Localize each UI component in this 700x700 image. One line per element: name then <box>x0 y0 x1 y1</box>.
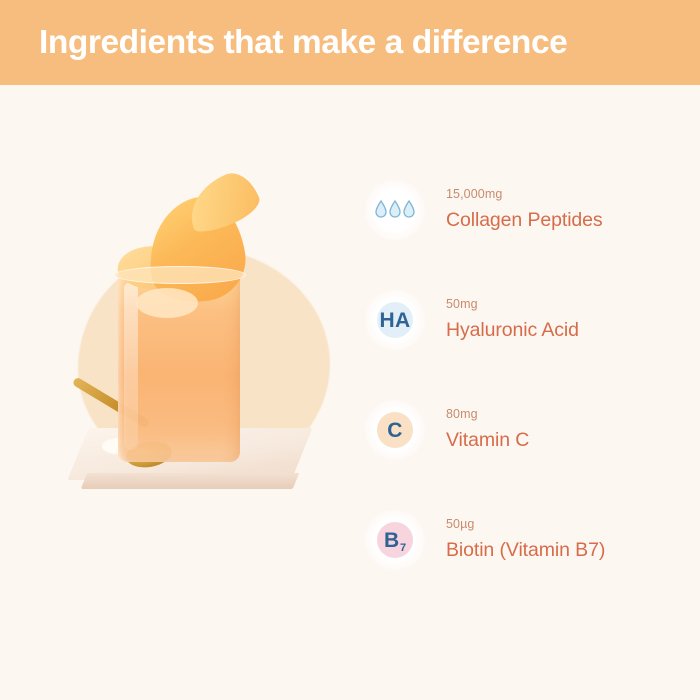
product-image <box>40 170 340 550</box>
ingredient-list: 15,000mg Collagen Peptides HA 50mg Hyalu… <box>362 172 682 578</box>
ingredient-text: 50mg Hyaluronic Acid <box>446 298 682 341</box>
ingredient-text: 15,000mg Collagen Peptides <box>446 188 682 231</box>
liquid-droplet <box>136 288 198 318</box>
water-drops-glyph <box>374 199 416 221</box>
glass-rim <box>114 266 246 284</box>
hyaluronic-acid-icon: HA <box>362 287 428 353</box>
ingredient-text: 80mg Vitamin C <box>446 408 682 451</box>
icon-glyph-label: B7 <box>384 530 406 551</box>
ingredient-name: Collagen Peptides <box>446 209 682 231</box>
header-band: Ingredients that make a difference <box>0 0 700 85</box>
icon-glyph-label: C <box>387 420 402 441</box>
ingredient-name: Hyaluronic Acid <box>446 319 682 341</box>
ingredient-name: Vitamin C <box>446 429 682 451</box>
ingredient-dose: 50µg <box>446 518 682 532</box>
ingredients-infographic: Ingredients that make a difference <box>0 0 700 700</box>
icon-glyph-subscript: 7 <box>400 542 406 554</box>
page-title: Ingredients that make a difference <box>0 26 567 60</box>
ingredient-row-hyaluronic-acid: HA 50mg Hyaluronic Acid <box>362 282 682 358</box>
ingredient-dose: 80mg <box>446 408 682 422</box>
vitamin-c-icon: C <box>362 397 428 463</box>
ingredient-dose: 50mg <box>446 298 682 312</box>
ingredient-row-vitamin-c: C 80mg Vitamin C <box>362 392 682 468</box>
ingredient-name: Biotin (Vitamin B7) <box>446 539 682 561</box>
water-drops-icon <box>362 177 428 243</box>
ingredient-dose: 15,000mg <box>446 188 682 202</box>
ingredient-row-biotin: B7 50µg Biotin (Vitamin B7) <box>362 502 682 578</box>
glass-highlight <box>124 282 138 450</box>
biotin-icon: B7 <box>362 507 428 573</box>
ingredient-text: 50µg Biotin (Vitamin B7) <box>446 518 682 561</box>
ingredient-row-collagen-peptides: 15,000mg Collagen Peptides <box>362 172 682 248</box>
icon-glyph-label: HA <box>380 310 411 331</box>
icon-glyph-main: B <box>384 529 399 552</box>
coaster-edge <box>81 473 299 489</box>
